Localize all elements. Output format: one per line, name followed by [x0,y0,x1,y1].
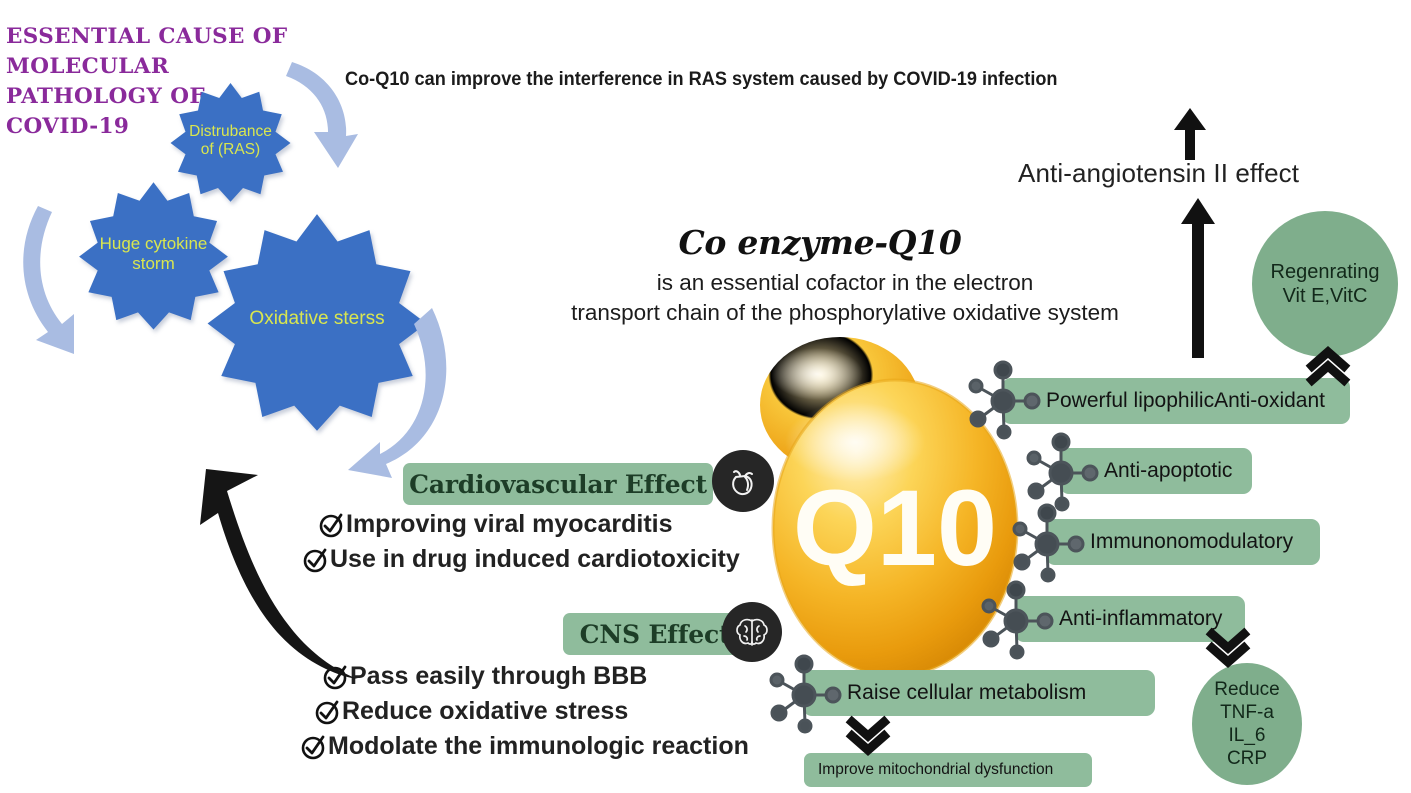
outcome-label: Regenrating Vit E,VitC [1271,260,1380,309]
effect-label: Immunonomodulatory [1090,530,1293,554]
effect-label: Powerful lipophilicAnti-oxidant [1046,389,1325,413]
list-item[interactable]: Reduce oxidative stress [314,695,800,728]
list-item[interactable]: Modolate the immunologic reaction [300,730,800,763]
outcome-regenerating-vitamins[interactable]: Regenrating Vit E,VitC [1252,211,1398,357]
headline-text: Co-Q10 can improve the interference in R… [345,68,1219,91]
effect-label: Anti-apoptotic [1104,459,1232,483]
coq10-subtitle-line2: transport chain of the phosphorylative o… [500,298,1190,328]
band-label: CNS Effect [580,620,731,649]
molecule-icon [1004,499,1090,585]
coq10-subtitle-line1: is an essential cofactor in the electron [500,268,1190,298]
check-circle-icon [300,734,326,760]
infographic-canvas: Essential cause of molecular pathology o… [0,0,1411,793]
molecule-icon [973,576,1059,662]
cycle-arrow-left [23,206,74,354]
effect-powerful-lipophilic-antioxidant[interactable]: Powerful lipophilicAnti-oxidant [1002,378,1350,424]
list-item-label: Reduce oxidative stress [342,695,628,728]
chevron-double-down-icon [845,718,891,752]
up-arrow-to-headline [1170,108,1210,160]
ras-cycle-arrows [0,40,460,460]
cns-effect-band[interactable]: CNS Effect [563,613,747,655]
cardiovascular-effect-band[interactable]: Cardiovascular Effect [403,463,713,505]
brain-icon [722,602,782,662]
outcome-improve-mitochondrial-dysfunction[interactable]: Improve mitochondrial dysfunction [804,753,1092,787]
feedback-curved-arrow [180,425,420,685]
curved-arrow-shape [200,469,358,679]
heart-icon [712,450,774,512]
check-circle-icon [314,699,340,725]
effect-label: Raise cellular metabolism [847,681,1086,705]
outcome-reduce-markers[interactable]: Reduce TNF-a IL_6 CRP [1192,663,1302,785]
band-label: Cardiovascular Effect [409,470,707,499]
effect-raise-cellular-metabolism[interactable]: Raise cellular metabolism [803,670,1155,716]
coq10-title: Co enzyme-Q10 [610,223,1030,262]
chevron-double-down-icon [1205,630,1251,664]
chevron-double-up-icon [1305,348,1351,382]
list-item-label: Modolate the immunologic reaction [328,730,749,763]
coq10-subtitle: is an essential cofactor in the electron… [500,268,1190,328]
outcome-label: Reduce TNF-a IL_6 CRP [1214,678,1280,771]
outcome-label: Improve mitochondrial dysfunction [818,761,1053,779]
q10-capsule-text: Q10 [793,467,997,588]
effect-label: Anti-inflammatory [1059,607,1222,631]
anti-angiotensin-label: Anti-angiotensin II effect [1018,158,1398,189]
